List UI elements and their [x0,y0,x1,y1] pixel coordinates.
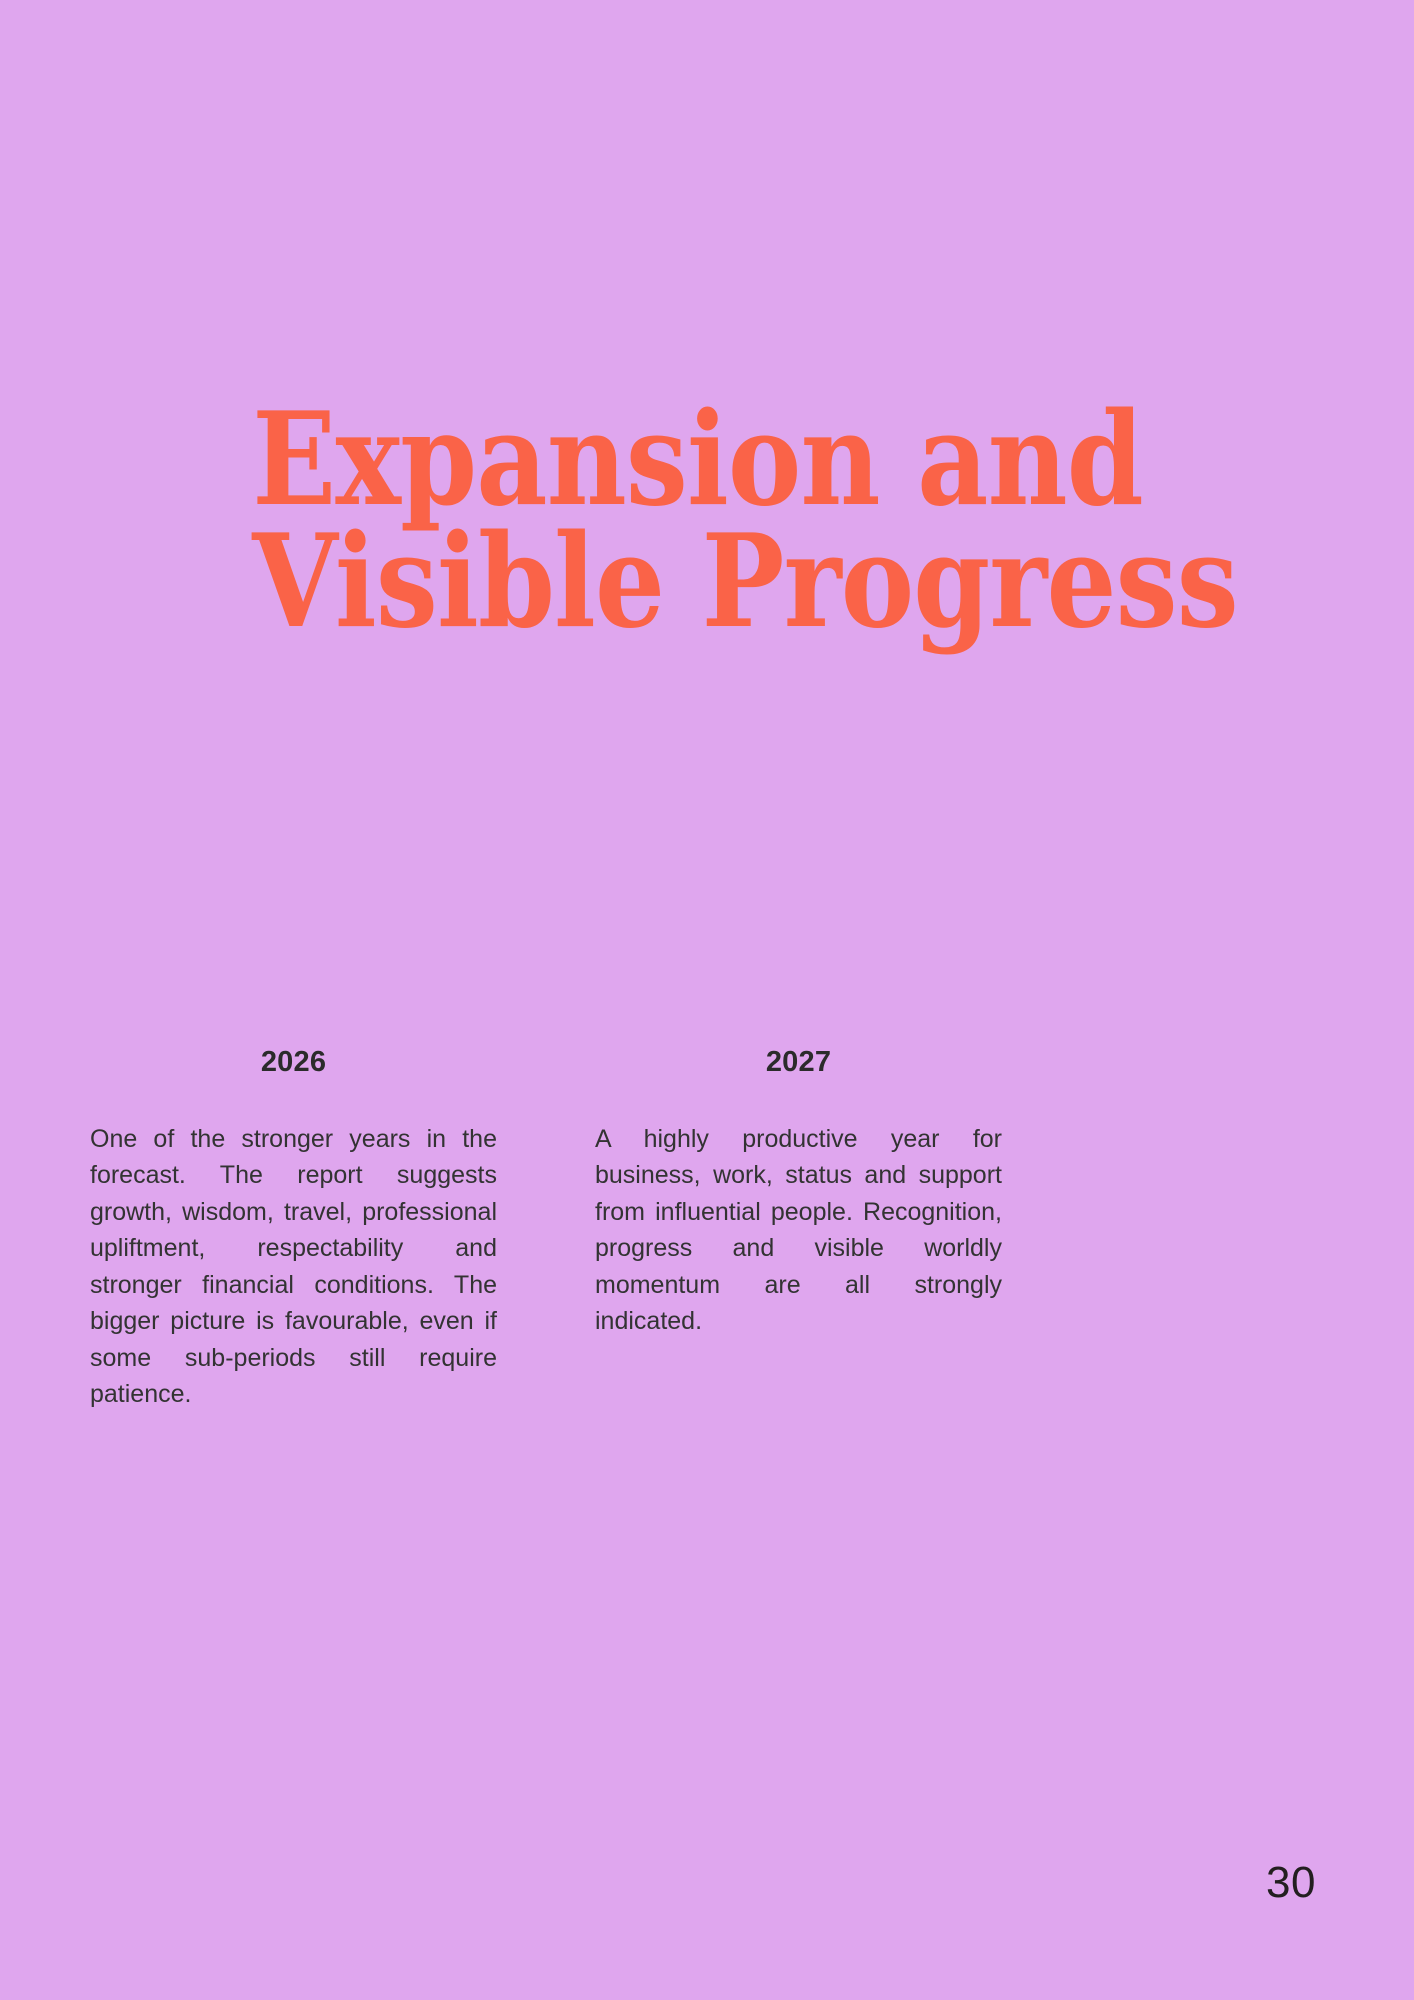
year-columns: 2026 One of the stronger years in the fo… [90,1045,1002,1449]
year-column-2027: 2027 A highly productive year for busine… [595,1045,1002,1449]
page-title-line-2: Visible Progress [252,522,1065,644]
year-body-2026: One of the stronger years in the forecas… [90,1121,497,1450]
page-number: 30 [1266,1861,1316,1905]
year-column-2026: 2026 One of the stronger years in the fo… [90,1045,497,1449]
slide-page: Expansion and Visible Progress 2026 One … [0,0,1414,2000]
year-body-2027: A highly productive year for business, w… [595,1121,1002,1377]
year-heading-2026: 2026 [90,1045,497,1080]
page-title: Expansion and Visible Progress [120,400,1065,643]
page-title-line-1: Expansion and [252,400,1065,522]
year-heading-2027: 2027 [595,1045,1002,1080]
